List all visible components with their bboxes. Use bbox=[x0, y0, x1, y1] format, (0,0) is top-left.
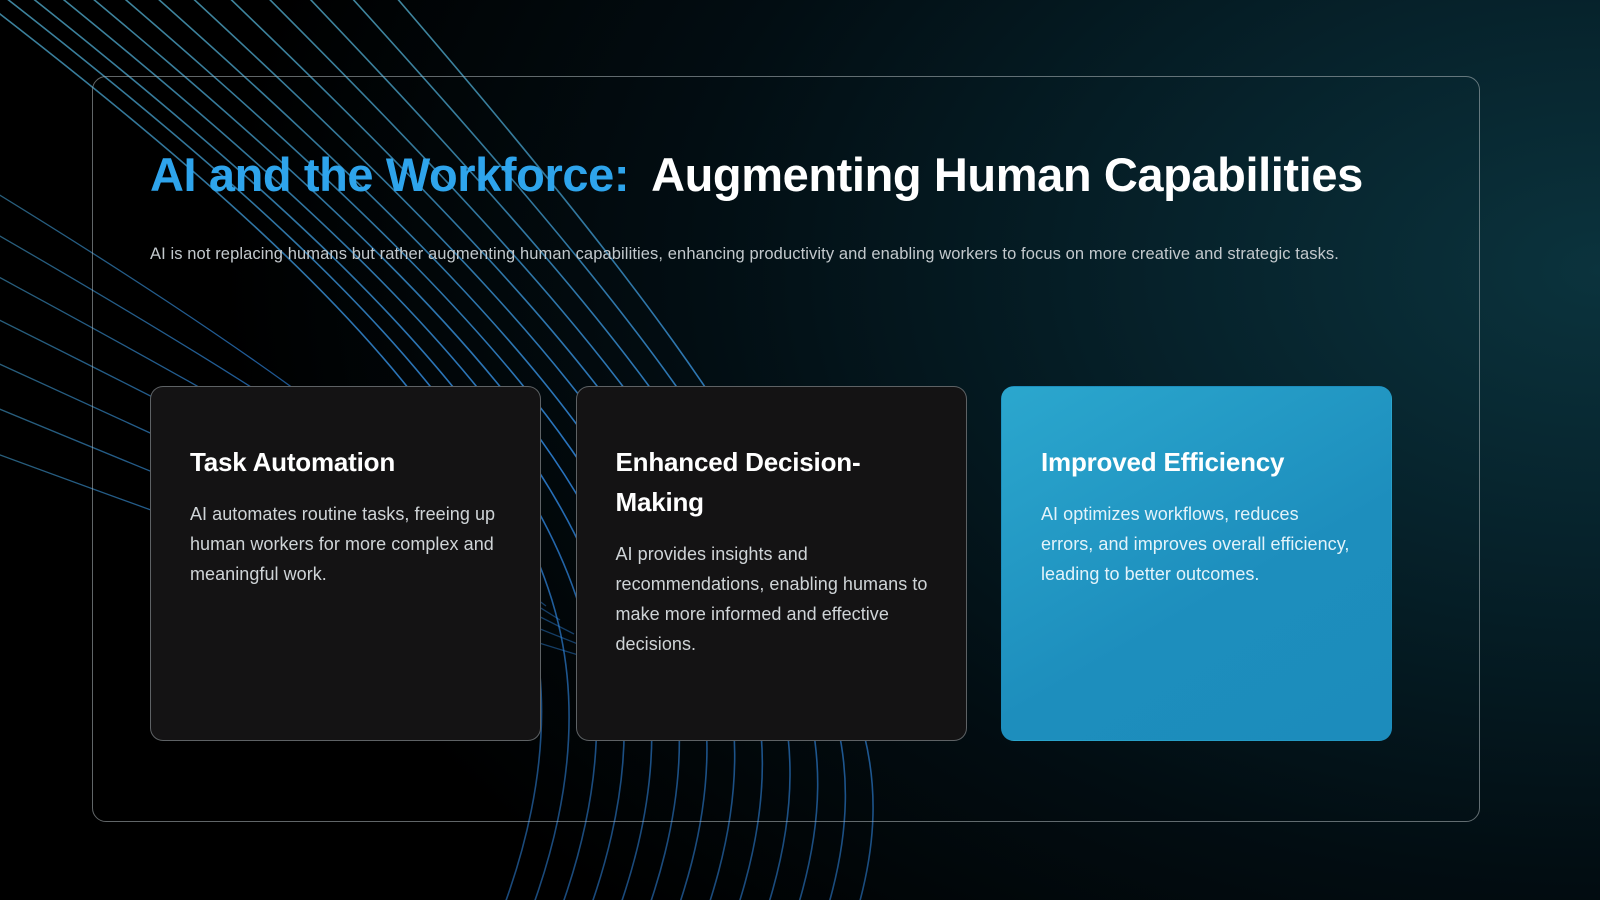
page-title-plain: Augmenting Human Capabilities bbox=[651, 148, 1363, 201]
page-title: AI and the Workforce:Augmenting Human Ca… bbox=[150, 148, 1450, 202]
card-title: Enhanced Decision-Making bbox=[616, 443, 928, 522]
feature-card-task-automation[interactable]: Task Automation AI automates routine tas… bbox=[150, 386, 541, 741]
feature-card-improved-efficiency[interactable]: Improved Efficiency AI optimizes workflo… bbox=[1001, 386, 1392, 741]
feature-card-row: Task Automation AI automates routine tas… bbox=[150, 386, 1392, 741]
feature-card-enhanced-decision-making[interactable]: Enhanced Decision-Making AI provides ins… bbox=[576, 386, 967, 741]
card-title: Task Automation bbox=[190, 443, 502, 482]
card-title: Improved Efficiency bbox=[1041, 443, 1353, 482]
card-body: AI automates routine tasks, freeing up h… bbox=[190, 500, 502, 590]
card-body: AI optimizes workflows, reduces errors, … bbox=[1041, 500, 1353, 590]
page-title-accent: AI and the Workforce: bbox=[150, 148, 629, 201]
card-body: AI provides insights and recommendations… bbox=[616, 540, 928, 660]
slide-canvas: AI and the Workforce:Augmenting Human Ca… bbox=[0, 0, 1600, 900]
page-subtitle: AI is not replacing humans but rather au… bbox=[150, 241, 1360, 269]
